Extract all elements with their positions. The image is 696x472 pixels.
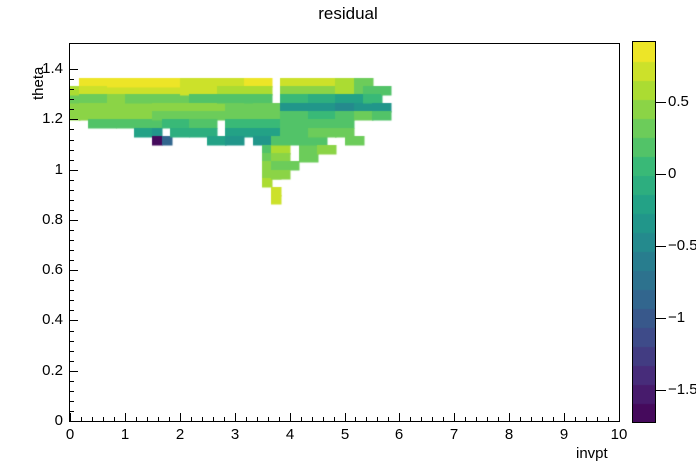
y-tick-major	[69, 69, 78, 70]
colorbar-tick-label: 0	[668, 165, 676, 182]
x-tick-minor	[323, 417, 324, 422]
x-tick-minor	[476, 417, 477, 422]
y-tick-minor	[69, 190, 74, 191]
x-tick-minor	[531, 417, 532, 422]
x-tick-major	[235, 413, 236, 422]
x-tick-major	[509, 413, 510, 422]
chart-title: residual	[0, 4, 696, 24]
colorbar-tick-label: −0.5	[668, 237, 696, 254]
x-tick-minor	[410, 417, 411, 422]
y-tick-minor	[69, 250, 74, 251]
x-tick-minor	[465, 417, 466, 422]
x-tick-label: 0	[45, 426, 95, 443]
x-tick-minor	[553, 417, 554, 422]
y-tick-minor	[69, 210, 74, 211]
x-tick-major	[619, 413, 620, 422]
x-tick-major	[399, 413, 400, 422]
y-tick-major	[69, 320, 78, 321]
x-tick-minor	[147, 417, 148, 422]
x-tick-label: 7	[429, 426, 479, 443]
y-tick-minor	[69, 391, 74, 392]
x-tick-minor	[586, 417, 587, 422]
x-tick-minor	[92, 417, 93, 422]
x-tick-label: 9	[539, 426, 589, 443]
x-tick-label: 8	[484, 426, 534, 443]
x-tick-minor	[498, 417, 499, 422]
x-tick-minor	[213, 417, 214, 422]
y-tick-minor	[69, 99, 74, 100]
y-tick-minor	[69, 300, 74, 301]
x-tick-minor	[421, 417, 422, 422]
y-tick-label: 1	[7, 161, 63, 178]
x-tick-major	[290, 413, 291, 422]
y-tick-minor	[69, 109, 74, 110]
heatmap-canvas	[70, 44, 619, 421]
root-canvas: residual theta invpt 00.20.40.60.811.21.…	[0, 0, 696, 472]
x-tick-major	[345, 413, 346, 422]
y-tick-minor	[69, 381, 74, 382]
colorbar-tick	[656, 174, 666, 175]
x-tick-minor	[191, 417, 192, 422]
x-tick-minor	[366, 417, 367, 422]
x-tick-minor	[334, 417, 335, 422]
y-tick-minor	[69, 180, 74, 181]
x-tick-minor	[202, 417, 203, 422]
x-tick-minor	[443, 417, 444, 422]
colorbar-tick	[656, 246, 666, 247]
colorbar-tick	[656, 318, 666, 319]
y-tick-minor	[69, 310, 74, 311]
x-tick-minor	[136, 417, 137, 422]
x-tick-minor	[312, 417, 313, 422]
y-tick-minor	[69, 129, 74, 130]
x-tick-label: 6	[374, 426, 424, 443]
x-tick-minor	[542, 417, 543, 422]
y-tick-label: 0.2	[7, 362, 63, 379]
x-tick-minor	[301, 417, 302, 422]
y-tick-minor	[69, 260, 74, 261]
x-tick-label: 2	[155, 426, 205, 443]
y-tick-minor	[69, 230, 74, 231]
x-tick-label: 10	[594, 426, 644, 443]
colorbar-tick-label: −1.5	[668, 381, 696, 398]
x-tick-minor	[388, 417, 389, 422]
y-tick-label: 1.2	[7, 110, 63, 127]
x-tick-minor	[257, 417, 258, 422]
y-tick-minor	[69, 240, 74, 241]
colorbar	[632, 41, 656, 423]
x-tick-minor	[268, 417, 269, 422]
x-tick-minor	[224, 417, 225, 422]
y-tick-label: 0.4	[7, 311, 63, 328]
y-tick-minor	[69, 280, 74, 281]
x-tick-major	[454, 413, 455, 422]
y-tick-minor	[69, 351, 74, 352]
y-tick-minor	[69, 331, 74, 332]
colorbar-tick	[656, 102, 666, 103]
x-tick-minor	[487, 417, 488, 422]
x-tick-minor	[608, 417, 609, 422]
y-tick-label: 0.8	[7, 211, 63, 228]
x-tick-minor	[246, 417, 247, 422]
x-tick-label: 1	[100, 426, 150, 443]
y-tick-major	[69, 270, 78, 271]
y-tick-minor	[69, 150, 74, 151]
y-tick-minor	[69, 341, 74, 342]
x-tick-minor	[597, 417, 598, 422]
y-tick-minor	[69, 79, 74, 80]
x-tick-minor	[169, 417, 170, 422]
x-tick-minor	[377, 417, 378, 422]
x-tick-minor	[279, 417, 280, 422]
y-tick-minor	[69, 140, 74, 141]
colorbar-tick-label: 0.5	[668, 93, 689, 110]
x-tick-minor	[520, 417, 521, 422]
y-tick-major	[69, 119, 78, 120]
x-axis-label: invpt	[576, 445, 608, 462]
y-tick-minor	[69, 200, 74, 201]
x-tick-major	[180, 413, 181, 422]
y-tick-minor	[69, 89, 74, 90]
x-tick-label: 4	[265, 426, 315, 443]
x-tick-minor	[114, 417, 115, 422]
y-tick-minor	[69, 411, 74, 412]
y-tick-minor	[69, 401, 74, 402]
y-tick-major	[69, 170, 78, 171]
y-tick-major	[69, 220, 78, 221]
x-tick-label: 3	[210, 426, 260, 443]
x-tick-major	[125, 413, 126, 422]
x-tick-minor	[575, 417, 576, 422]
colorbar-gradient	[633, 42, 655, 422]
y-tick-label: 0.6	[7, 261, 63, 278]
x-tick-minor	[432, 417, 433, 422]
x-tick-label: 5	[320, 426, 370, 443]
y-tick-major	[69, 371, 78, 372]
x-tick-major	[70, 413, 71, 422]
x-tick-minor	[158, 417, 159, 422]
x-tick-minor	[103, 417, 104, 422]
x-tick-major	[564, 413, 565, 422]
x-tick-minor	[81, 417, 82, 422]
x-tick-minor	[355, 417, 356, 422]
plot-frame	[69, 43, 620, 422]
y-tick-minor	[69, 160, 74, 161]
colorbar-tick-label: −1	[668, 309, 685, 326]
y-tick-minor	[69, 361, 74, 362]
colorbar-tick	[656, 390, 666, 391]
y-tick-label: 1.4	[7, 60, 63, 77]
y-tick-minor	[69, 290, 74, 291]
